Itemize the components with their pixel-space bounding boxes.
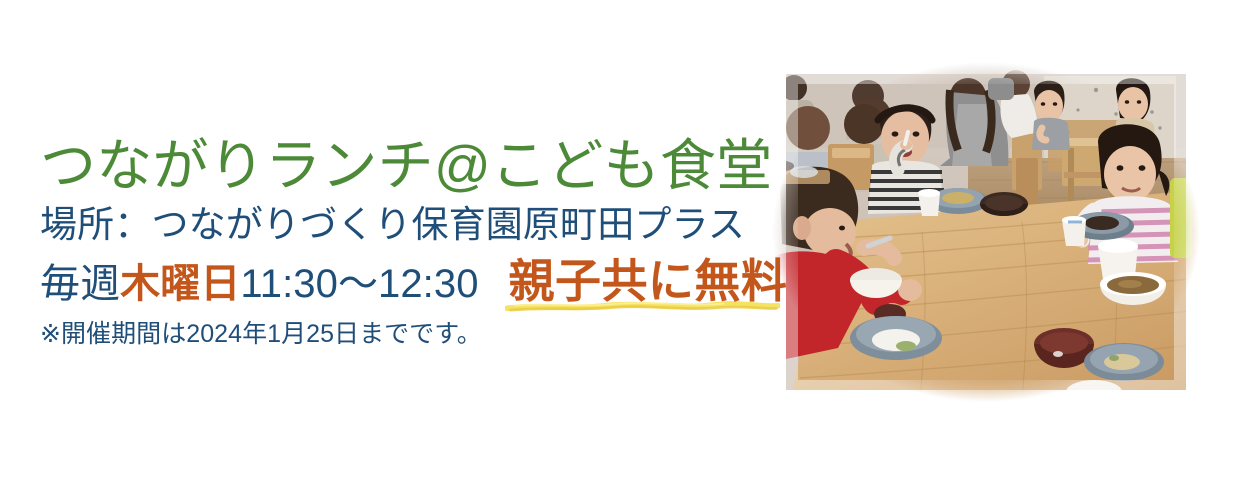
free-label: 親子共に無料 [509,258,788,304]
page-title: つながりランチ@こども食堂 [40,136,800,195]
poster-canvas: つながりランチ@こども食堂 場所：つながりづくり保育園原町田プラス 毎週木曜日1… [0,0,1238,478]
schedule-prefix: 毎週 [40,262,120,306]
free-badge: 親子共に無料 [509,258,788,306]
schedule-row: 毎週木曜日11:30〜12:30 親子共に無料 [40,258,800,306]
schedule-weekday: 木曜日 [120,262,240,306]
schedule-line: 毎週木曜日11:30〜12:30 [40,262,479,306]
period-note: ※開催期間は2024年1月25日までです。 [40,320,800,349]
poster-text-block: つながりランチ@こども食堂 場所：つながりづくり保育園原町田プラス 毎週木曜日1… [40,136,800,349]
lunch-photo-image [772,62,1200,402]
schedule-time: 11:30〜12:30 [240,262,478,306]
lunch-photo [772,62,1200,402]
venue-line: 場所：つながりづくり保育園原町田プラス [40,205,800,246]
